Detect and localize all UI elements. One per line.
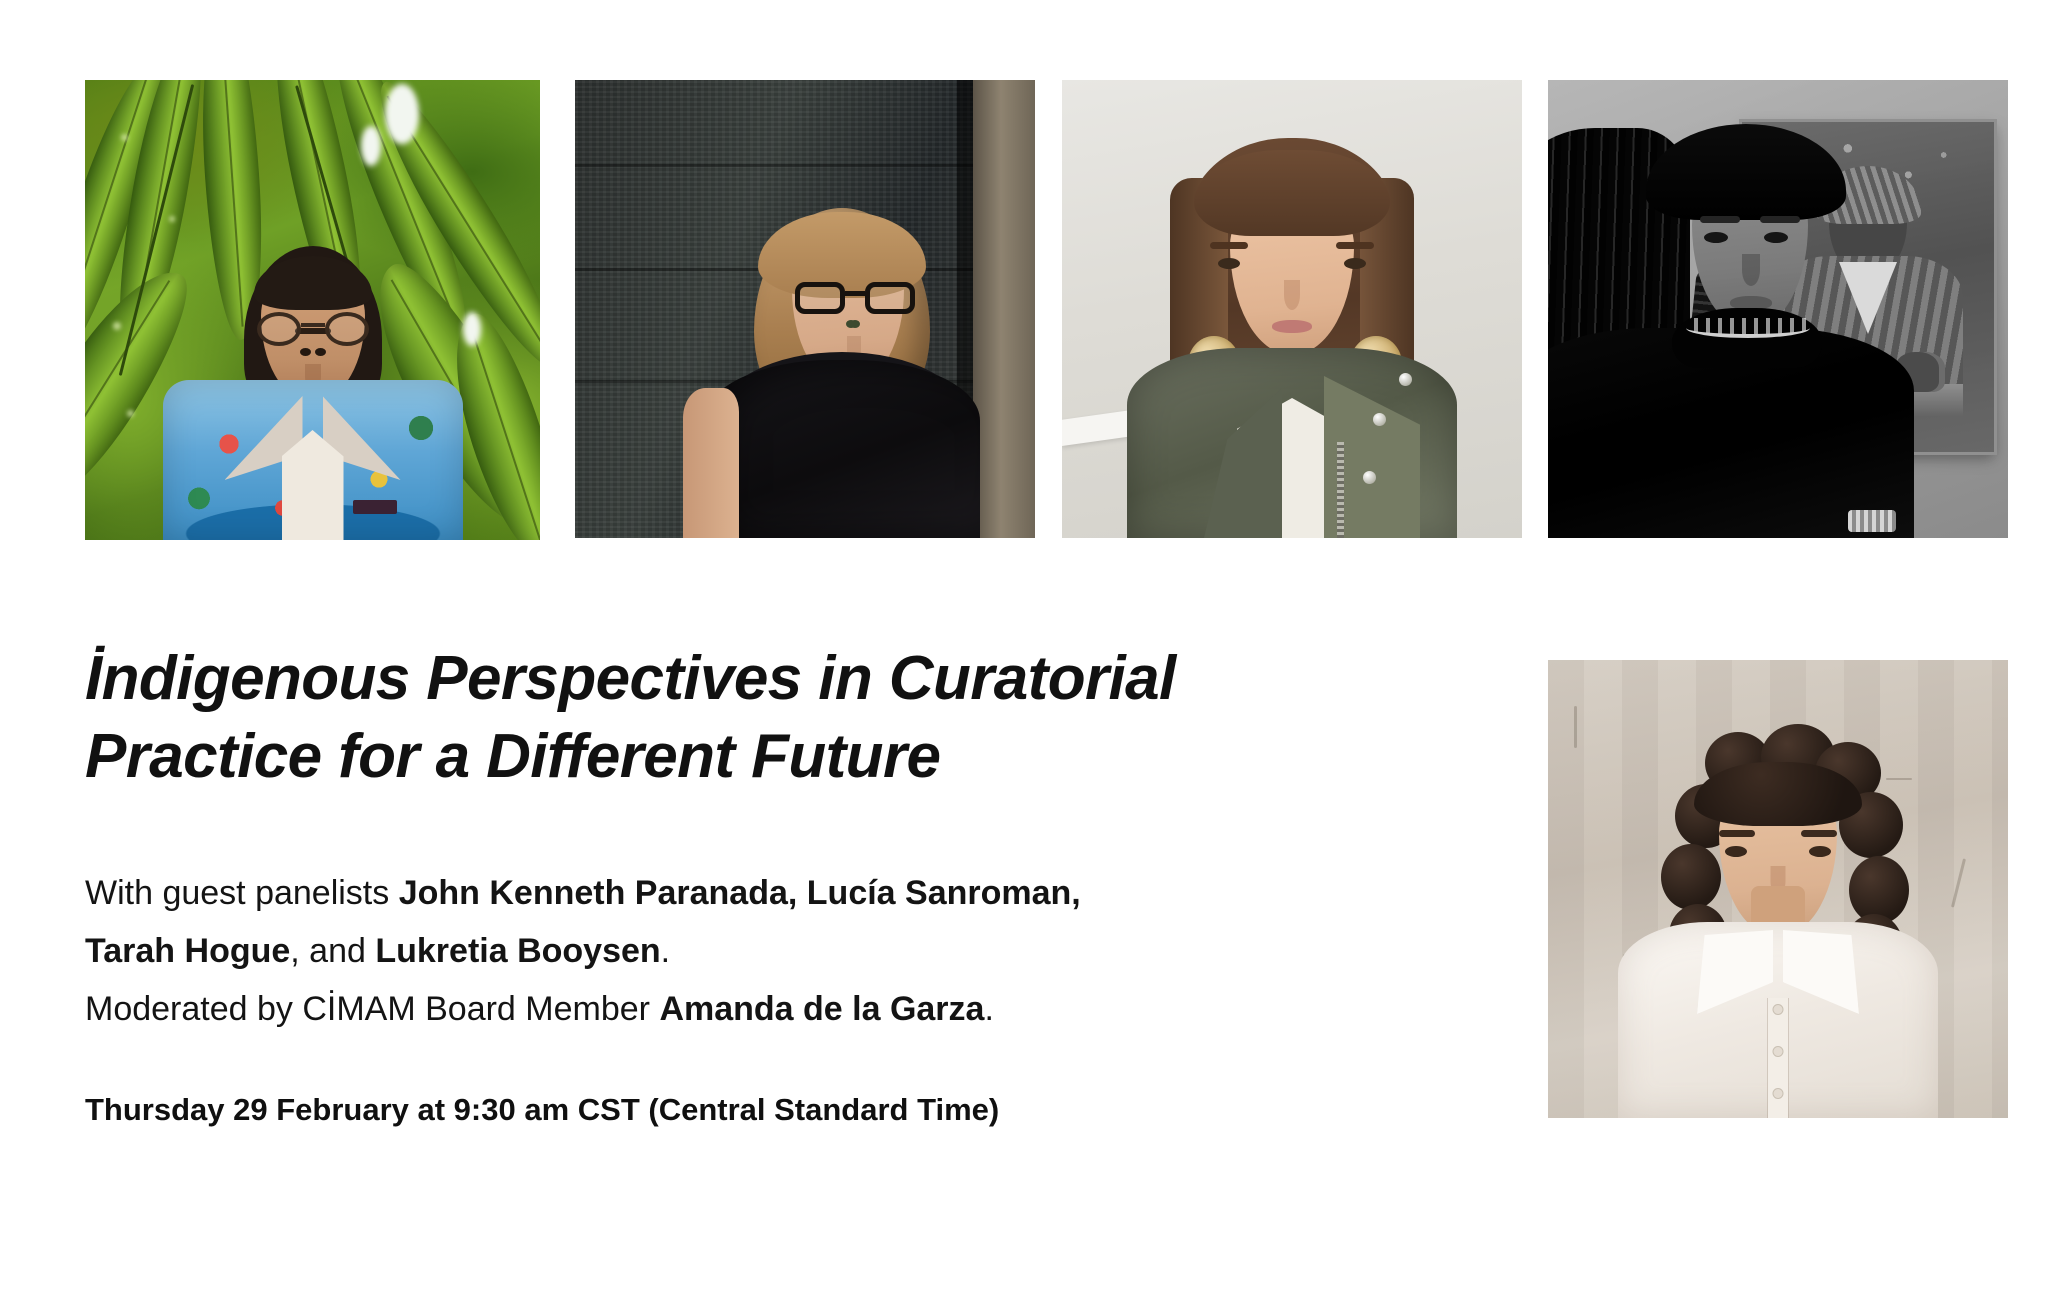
eye-right <box>1809 846 1831 857</box>
nose <box>1284 280 1300 310</box>
event-title: İndigenous Perspectives in Curatorial Pr… <box>85 640 1485 796</box>
panelist-names-line-1: John Kenneth Paranada, Lucía Sanroman, <box>399 874 1081 912</box>
jacket-snap <box>1373 413 1386 426</box>
sky-gap <box>385 84 419 144</box>
eyebrow-left <box>1700 216 1740 223</box>
wall-mark <box>1574 706 1577 748</box>
portrait-panelist-3 <box>1062 80 1522 538</box>
moderator-name: Amanda de la Garza <box>659 990 984 1028</box>
portrait-3-scene <box>1062 80 1522 538</box>
panelist-name-lukretia-booysen: Lukretia Booysen <box>375 932 660 970</box>
event-datetime: Thursday 29 February at 9:30 am CST (Cen… <box>85 1092 1485 1128</box>
glasses-bridge <box>301 323 325 327</box>
portrait-1-scene <box>85 80 540 540</box>
panelists-line-1: With guest panelists John Kenneth Parana… <box>85 864 1485 922</box>
panelists-intro-text: With guest panelists <box>85 874 399 912</box>
leaf-highlight <box>127 410 134 417</box>
eye-right <box>1764 232 1788 243</box>
eyebrow-right <box>1760 216 1800 223</box>
eyebrow-right <box>1336 242 1374 249</box>
portrait-1-figure <box>163 240 463 540</box>
eye-left <box>1218 258 1240 269</box>
hair-curl <box>1661 844 1721 910</box>
event-title-line-1: İndigenous Perspectives in Curatorial <box>85 640 1485 718</box>
lens-right <box>865 282 915 314</box>
portrait-panelist-2 <box>575 80 1035 538</box>
panelists-conjunction: , and <box>290 932 375 970</box>
panelists-period: . <box>661 932 670 970</box>
wristwatch <box>1848 510 1896 532</box>
shirt-button <box>1774 1005 1783 1014</box>
event-title-line-2: Practice for a Different Future <box>85 718 1485 796</box>
moderator-line: Moderated by CİMAM Board Member Amanda d… <box>85 980 1485 1038</box>
portrait-5-figure <box>1613 728 1943 1118</box>
leaf-highlight <box>113 322 121 330</box>
portrait-moderator <box>1548 660 2008 1118</box>
eye-right <box>846 320 856 328</box>
mouth <box>1272 320 1312 333</box>
portrait-3-figure <box>1112 138 1472 538</box>
eye-left <box>1725 846 1747 857</box>
eye-left <box>1704 232 1728 243</box>
sky-gap <box>361 126 381 166</box>
lens-left <box>795 282 845 314</box>
black-sleeveless-top <box>704 360 980 538</box>
leaf-highlight <box>121 134 128 141</box>
portrait-5-scene <box>1548 660 2008 1118</box>
lens-right <box>325 312 369 346</box>
moderator-intro-text: Moderated by CİMAM Board Member <box>85 990 659 1028</box>
portrait-4-scene <box>1548 80 2008 538</box>
sky-gap <box>463 312 481 346</box>
panelist-name-tarah-hogue: Tarah Hogue <box>85 932 290 970</box>
portrait-panelist-4 <box>1548 80 2008 538</box>
hair-top <box>1646 124 1846 220</box>
eye-right <box>1344 258 1366 269</box>
lens-left <box>257 312 301 346</box>
arm <box>683 388 739 538</box>
shirt-button <box>1774 1089 1783 1098</box>
chain-necklace <box>1686 318 1810 338</box>
leaf-highlight <box>169 216 175 222</box>
eyeglasses <box>257 312 369 346</box>
shirt-button <box>1774 1047 1783 1056</box>
portrait-panelist-1 <box>85 80 540 540</box>
eyebrow-right <box>1801 830 1837 837</box>
panelists-block: With guest panelists John Kenneth Parana… <box>85 864 1485 1038</box>
poster-canvas: İndigenous Perspectives in Curatorial Pr… <box>0 0 2048 1314</box>
eyebrow-left <box>1210 242 1248 249</box>
moderator-period: . <box>984 990 993 1028</box>
portrait-2-figure <box>677 208 1007 538</box>
eyeglasses <box>795 282 915 316</box>
tropical-shirt <box>163 380 463 540</box>
eye-right <box>300 348 311 356</box>
shirt-badge <box>353 500 397 514</box>
turtleneck-collar <box>1672 308 1822 368</box>
jacket-zipper <box>1337 442 1344 538</box>
eyebrow-left <box>1719 830 1755 837</box>
jacket-snap <box>1363 471 1376 484</box>
nose <box>1742 254 1760 286</box>
panelists-line-2: Tarah Hogue, and Lukretia Booysen. <box>85 922 1485 980</box>
jacket-snap <box>1399 373 1412 386</box>
poster-text-column: İndigenous Perspectives in Curatorial Pr… <box>85 640 1485 1128</box>
glasses-bridge <box>845 291 865 296</box>
hair-bangs <box>1694 762 1862 826</box>
hair-bangs <box>1194 150 1390 236</box>
portrait-4-figure <box>1548 118 1914 538</box>
portrait-2-scene <box>575 80 1035 538</box>
shirt-placket <box>1768 998 1788 1118</box>
eye-left <box>315 348 326 356</box>
